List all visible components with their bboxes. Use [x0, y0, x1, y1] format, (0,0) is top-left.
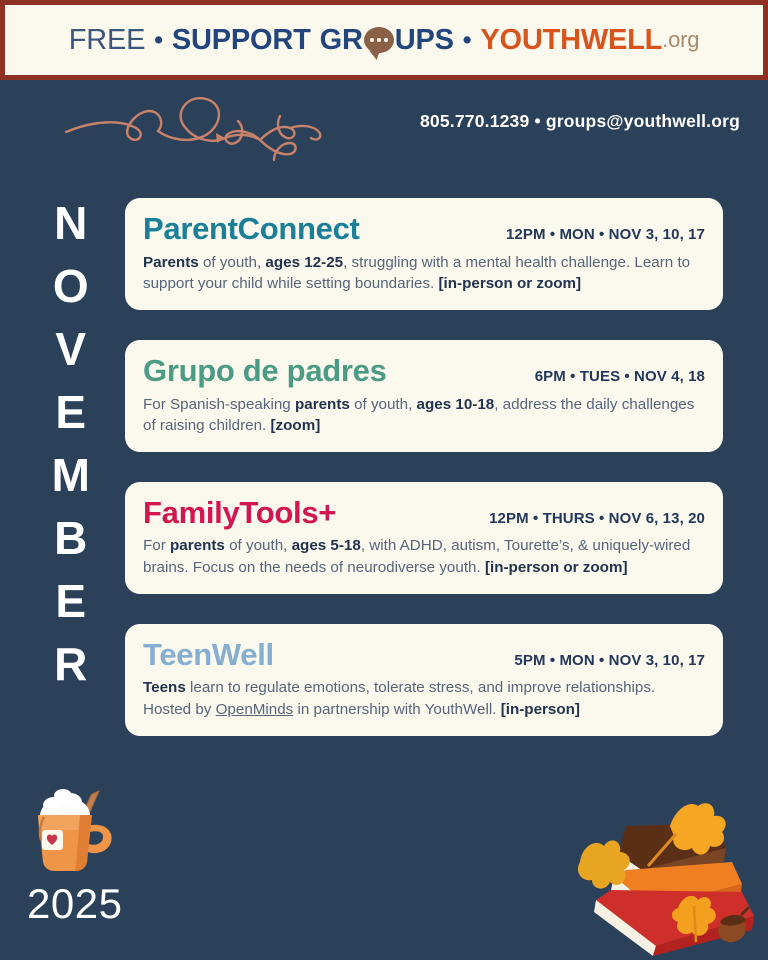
group-card-teenwell[interactable]: TeenWell 5PM • MON • NOV 3, 10, 17 Teens… — [125, 624, 723, 736]
month-letter: M — [52, 444, 91, 507]
speech-bubble-icon — [364, 27, 394, 53]
month-letter: E — [55, 381, 86, 444]
card-schedule: 6PM • TUES • NOV 4, 18 — [535, 368, 705, 388]
card-header: ParentConnect 12PM • MON • NOV 3, 10, 17 — [143, 212, 705, 247]
swirl-flourish-icon — [62, 88, 327, 170]
logo-gr-text: GR — [320, 24, 363, 57]
pumpkin-spice-mug-icon — [18, 778, 136, 878]
support-group-list: ParentConnect 12PM • MON • NOV 3, 10, 17… — [125, 198, 723, 766]
logo-org-text: .org — [662, 27, 699, 53]
vertical-month-label: N O V E M B E R — [38, 192, 104, 696]
header-banner: FREE • SUPPORT GR UPS • YOUTHWELL .org — [0, 0, 768, 80]
card-title: Grupo de padres — [143, 354, 387, 389]
month-letter: V — [55, 318, 86, 381]
card-description: For parents of youth, ages 5-18, with AD… — [143, 535, 705, 578]
card-header: TeenWell 5PM • MON • NOV 3, 10, 17 — [143, 638, 705, 673]
card-header: FamilyTools+ 12PM • THURS • NOV 6, 13, 2… — [143, 496, 705, 531]
card-schedule: 5PM • MON • NOV 3, 10, 17 — [514, 652, 705, 672]
card-schedule: 12PM • THURS • NOV 6, 13, 20 — [489, 510, 705, 530]
month-letter: E — [55, 570, 86, 633]
card-title: TeenWell — [143, 638, 274, 673]
card-schedule: 12PM • MON • NOV 3, 10, 17 — [506, 226, 705, 246]
card-description: For Spanish-speaking parents of youth, a… — [143, 394, 705, 437]
logo-support-text: SUPPORT — [172, 24, 311, 57]
year-label: 2025 — [27, 880, 122, 928]
logo-ups-text: UPS — [395, 24, 454, 57]
card-description: Teens learn to regulate emotions, tolera… — [143, 677, 705, 720]
month-letter: O — [53, 255, 89, 318]
contact-info: 805.770.1239 • groups@youthwell.org — [420, 111, 740, 132]
month-letter: B — [54, 507, 88, 570]
card-description: Parents of youth, ages 12-25, struggling… — [143, 252, 705, 295]
logo-separator-2: • — [463, 26, 472, 55]
youthwell-logo: FREE • SUPPORT GR UPS • YOUTHWELL .org — [69, 24, 700, 57]
month-letter: N — [54, 192, 88, 255]
logo-youthwell-text: YOUTHWELL — [480, 24, 662, 57]
autumn-book-stack-icon — [556, 796, 766, 960]
group-card-grupo-de-padres[interactable]: Grupo de padres 6PM • TUES • NOV 4, 18 F… — [125, 340, 723, 452]
month-letter: R — [54, 633, 88, 696]
logo-separator-1: • — [154, 26, 163, 55]
card-title: FamilyTools+ — [143, 496, 336, 531]
group-card-parentconnect[interactable]: ParentConnect 12PM • MON • NOV 3, 10, 17… — [125, 198, 723, 310]
group-card-familytools[interactable]: FamilyTools+ 12PM • THURS • NOV 6, 13, 2… — [125, 482, 723, 594]
logo-free-text: FREE — [69, 24, 146, 57]
card-title: ParentConnect — [143, 212, 360, 247]
card-header: Grupo de padres 6PM • TUES • NOV 4, 18 — [143, 354, 705, 389]
